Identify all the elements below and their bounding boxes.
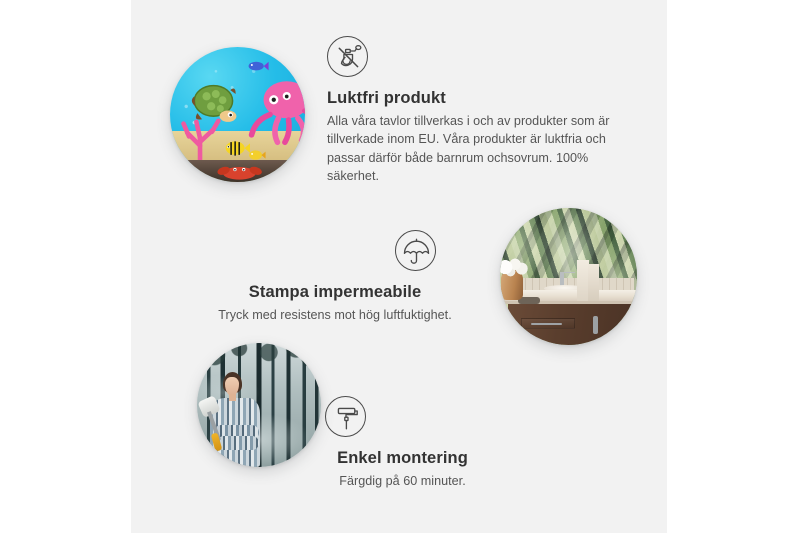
- page-root: Luktfri produkt Alla våra tavlor tillver…: [0, 0, 800, 533]
- blue-fish-icon: [247, 58, 269, 74]
- bathroom-leaf-wallpaper-thumbnail[interactable]: [500, 208, 637, 345]
- feature-easy-mounting-description: Färgdig på 60 minuter.: [310, 472, 495, 491]
- red-crab-icon: [211, 162, 268, 181]
- drawer-handle: [531, 323, 562, 325]
- neck: [229, 394, 236, 401]
- no-spray-bottle-icon: [327, 36, 368, 77]
- feature-easy-mounting: Enkel montering Färgdig på 60 minuter.: [310, 396, 495, 490]
- feature-waterproof-title: Stampa impermeabile: [210, 282, 460, 303]
- pink-coral-icon: [178, 116, 224, 161]
- cabinet-door-handle: [593, 316, 598, 334]
- woman-figure: [202, 368, 279, 467]
- yellow-striped-fish-icon: [223, 136, 250, 160]
- woman-with-paint-roller-thumbnail[interactable]: [197, 343, 321, 467]
- pink-octopus-icon: [246, 78, 305, 146]
- photo-ocean-content: [170, 47, 305, 182]
- feature-odorless-description: Alla våra tavlor tillverkas i och av pro…: [327, 112, 627, 186]
- feature-odorless: Luktfri produkt Alla våra tavlor tillver…: [327, 36, 627, 186]
- underwater-cartoon-wallpaper-thumbnail[interactable]: [170, 47, 305, 182]
- white-flowers: [500, 255, 529, 277]
- photo-bath-content: [500, 208, 637, 345]
- feature-easy-mounting-icon-wrap: [310, 396, 495, 437]
- rolled-towel-right: [588, 264, 599, 301]
- photo-woman-content: [197, 343, 321, 467]
- paint-roller-icon: [325, 396, 366, 437]
- feature-waterproof: Stampa impermeabile Tryck med resistens …: [210, 230, 460, 324]
- feature-odorless-icon-wrap: [327, 36, 627, 77]
- feature-waterproof-description: Tryck med resistens mot hög luftfuktighe…: [210, 306, 460, 325]
- folded-arm-lower: [217, 436, 259, 450]
- faucet-icon: [560, 272, 563, 286]
- feature-waterproof-icon-wrap: [210, 230, 460, 271]
- feature-odorless-title: Luktfri produkt: [327, 88, 627, 109]
- wood-cabinet: [508, 304, 637, 345]
- feature-easy-mounting-title: Enkel montering: [310, 448, 495, 469]
- umbrella-icon: [395, 230, 436, 271]
- small-yellow-fish-icon: [248, 147, 266, 163]
